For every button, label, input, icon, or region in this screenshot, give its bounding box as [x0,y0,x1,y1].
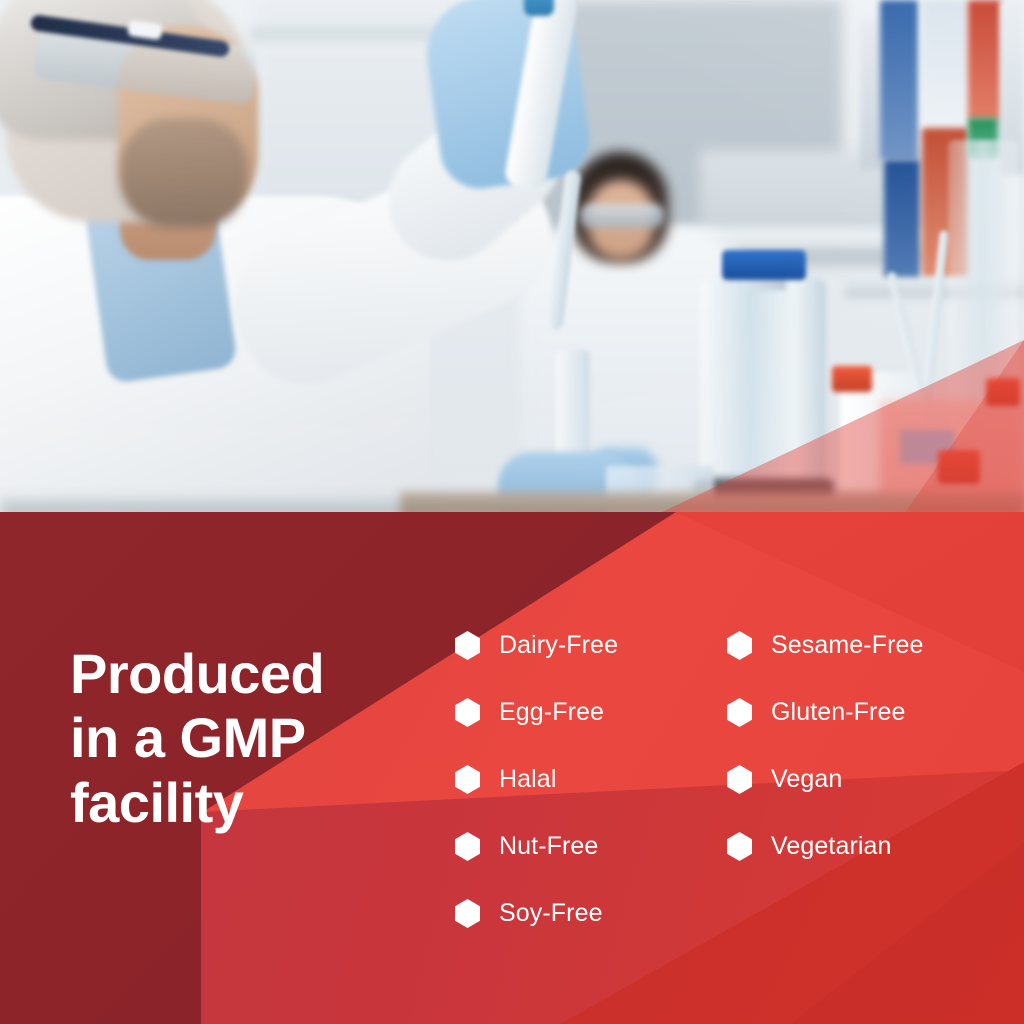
hexagon-bullet-icon [455,765,480,794]
certification-list-right: Sesame-Free Gluten-Free Vegan Vegetarian [727,612,924,880]
list-item: Nut-Free [455,813,618,880]
poster-canvas: Produced in a GMP facility Dairy-Free Eg… [0,0,1024,1024]
certification-label: Gluten-Free [771,698,906,727]
hexagon-bullet-icon [727,765,752,794]
certification-label: Dairy-Free [499,631,618,660]
hexagon-bullet-icon [727,832,752,861]
hexagon-bullet-icon [455,899,480,928]
hexagon-bullet-icon [727,631,752,660]
certification-label: Egg-Free [499,698,604,727]
list-item: Gluten-Free [727,679,924,746]
list-item: Sesame-Free [727,612,924,679]
certification-label: Halal [499,765,556,794]
certification-label: Vegan [771,765,842,794]
list-item: Soy-Free [455,880,618,947]
panel-content: Produced in a GMP facility Dairy-Free Eg… [0,512,1024,1024]
list-item: Vegan [727,746,924,813]
hexagon-bullet-icon [455,698,480,727]
list-item: Vegetarian [727,813,924,880]
headline-line-1: Produced [70,642,470,707]
certification-label: Soy-Free [499,899,603,928]
certification-label: Sesame-Free [771,631,924,660]
list-item: Dairy-Free [455,612,618,679]
red-info-panel: Produced in a GMP facility Dairy-Free Eg… [0,512,1024,1024]
list-item: Halal [455,746,618,813]
headline-line-2: in a GMP [70,706,470,771]
list-item: Egg-Free [455,679,618,746]
hexagon-bullet-icon [455,832,480,861]
hexagon-bullet-icon [727,698,752,727]
certification-label: Nut-Free [499,832,598,861]
page-title: Produced in a GMP facility [70,642,470,837]
certification-list-left: Dairy-Free Egg-Free Halal Nut-Free [455,612,618,947]
hexagon-bullet-icon [455,631,480,660]
lab-photo [0,0,1024,513]
certification-label: Vegetarian [771,832,892,861]
headline-line-3: facility [70,771,470,836]
